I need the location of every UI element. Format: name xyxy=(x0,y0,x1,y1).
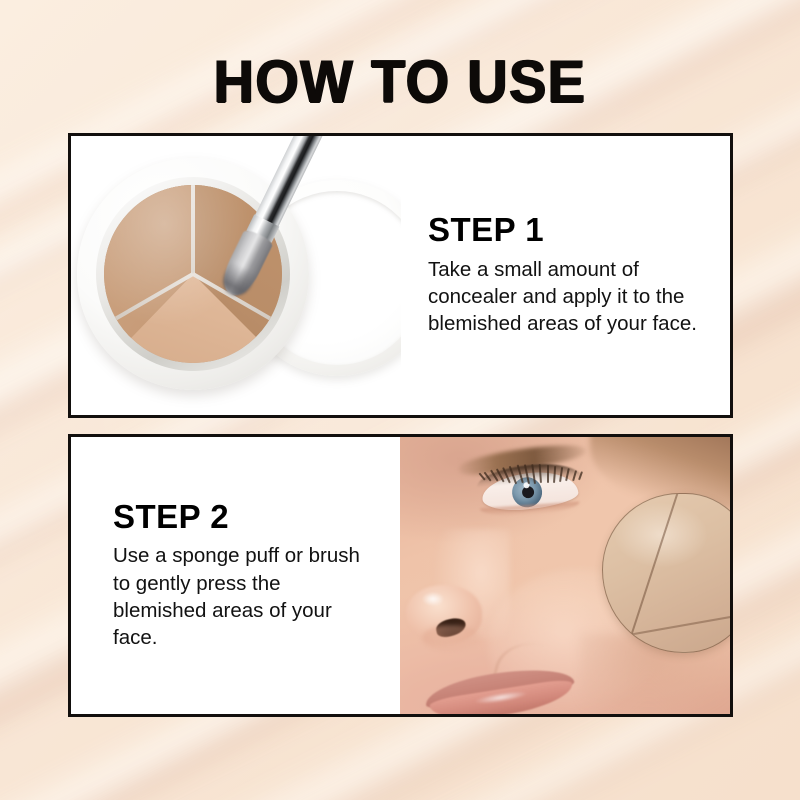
puff-highlight xyxy=(615,503,707,566)
nose-highlight xyxy=(422,592,444,606)
step-2-body: Use a sponge puff or brush to gently pre… xyxy=(113,542,378,651)
step-1-body: Take a small amount of concealer and app… xyxy=(428,256,708,338)
step-2-image xyxy=(400,437,730,714)
step-card-1: STEP 1 Take a small amount of concealer … xyxy=(68,133,733,418)
step-1-image xyxy=(71,136,401,415)
step-card-2: STEP 2 Use a sponge puff or brush to gen… xyxy=(68,434,733,717)
page-title: HOW TO USE xyxy=(28,52,772,112)
eyelash xyxy=(547,465,549,484)
step-2-text-pane: STEP 2 Use a sponge puff or brush to gen… xyxy=(71,437,400,714)
step-1-text-pane: STEP 1 Take a small amount of concealer … xyxy=(401,136,730,415)
step-2-heading: STEP 2 xyxy=(113,500,378,535)
concealer-palette-illustration xyxy=(71,136,401,415)
step-1-heading: STEP 1 xyxy=(428,213,708,248)
nose-wing xyxy=(422,625,480,651)
face-closeup-illustration xyxy=(400,437,730,714)
shade-divider xyxy=(191,185,195,274)
